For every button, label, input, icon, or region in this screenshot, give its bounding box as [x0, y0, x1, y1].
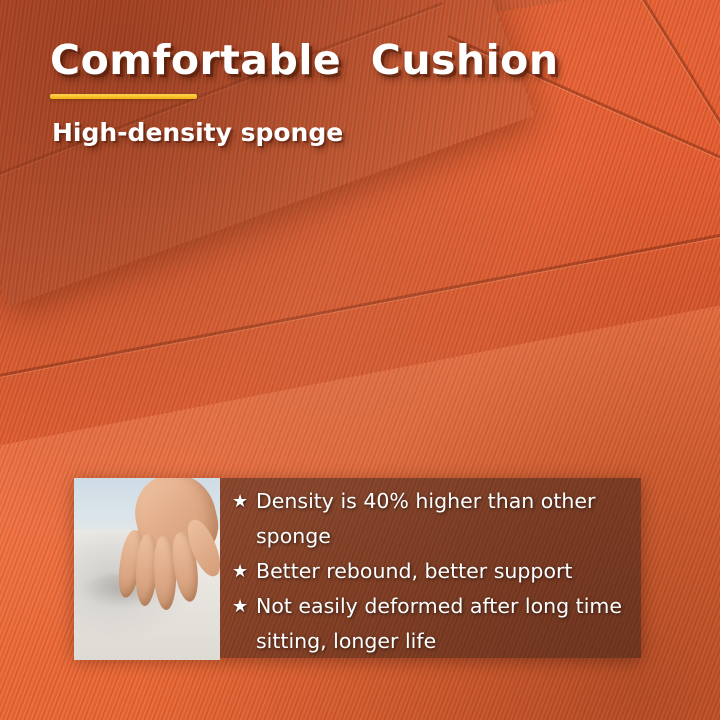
list-item-label: Better rebound, better support [256, 554, 634, 589]
page-subtitle: High-density sponge [52, 118, 343, 147]
page-title: Comfortable Cushion [50, 36, 559, 84]
title-underline [50, 94, 197, 99]
list-item: ★ Density is 40% higher than other spong… [232, 484, 634, 554]
list-item: ★ Not easily deformed after long time si… [232, 589, 634, 659]
star-icon: ★ [232, 589, 256, 624]
star-icon: ★ [232, 484, 256, 519]
list-item: ★ Better rebound, better support [232, 554, 634, 589]
hand-icon [114, 478, 218, 624]
feature-list: ★ Density is 40% higher than other spong… [232, 484, 634, 659]
list-item-label: Not easily deformed after long time sitt… [256, 589, 634, 659]
inset-photo-foam-press [74, 478, 220, 660]
list-item-label: Density is 40% higher than other sponge [256, 484, 634, 554]
star-icon: ★ [232, 554, 256, 589]
product-feature-image: Comfortable Cushion High-density sponge … [0, 0, 720, 720]
